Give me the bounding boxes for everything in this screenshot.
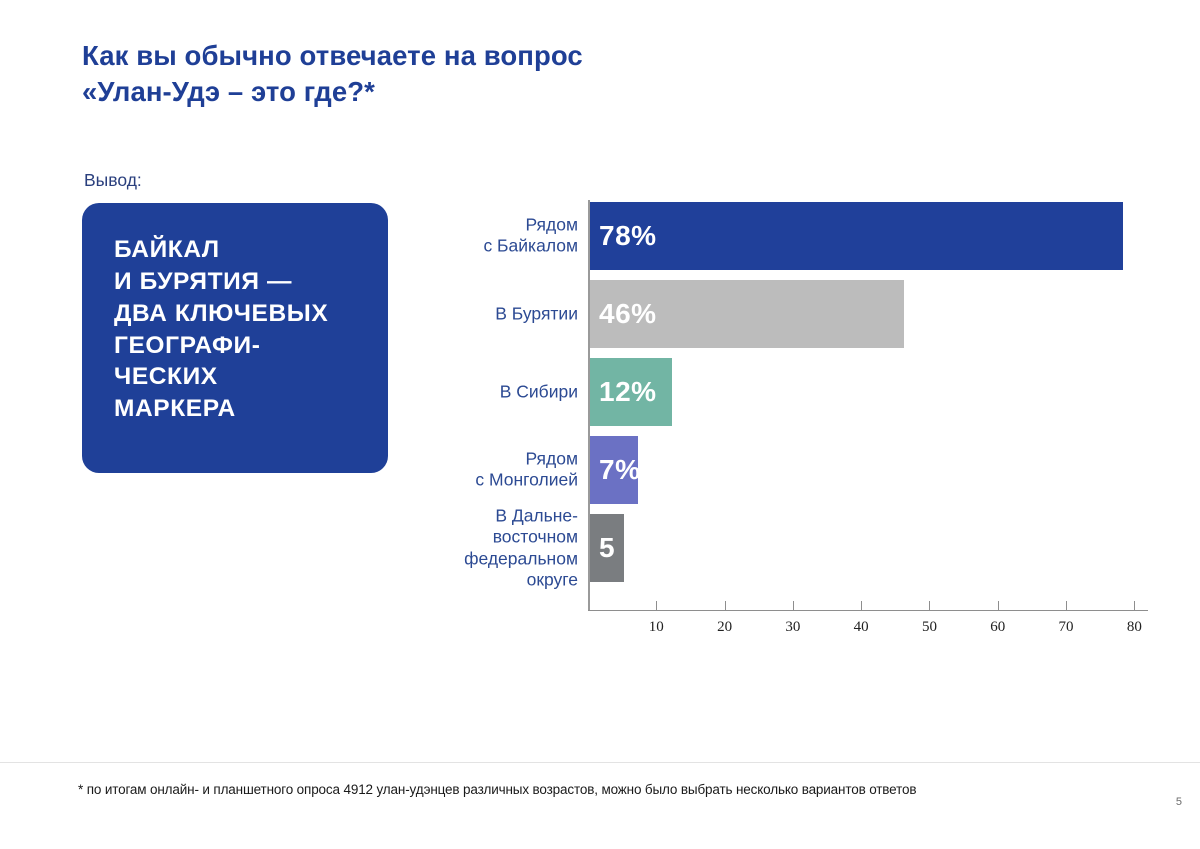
bar: 78% [590,202,1123,270]
x-axis-tick [861,601,862,610]
chart-plot-area: Рядом с Байкалом78%В Бурятии46%В Сибири1… [588,196,1148,610]
page-title: Как вы обычно отвечаете на вопрос «Улан-… [82,38,842,110]
x-axis-tick-label: 20 [717,619,732,636]
x-axis-tick-label: 70 [1059,619,1074,636]
conclusion-caption: Вывод: [82,170,392,191]
bar-value-label: 12% [590,376,657,408]
bar: 46% [590,280,904,348]
x-axis-tick [1134,601,1135,610]
footnote: * по итогам онлайн- и планшетного опроса… [78,782,916,797]
x-axis-tick [793,601,794,610]
bar-row: Рядом с Монголией7% [588,436,1148,504]
bar-value-label: 5 [590,532,615,564]
page-number: 5 [1176,796,1182,808]
bar-row: В Дальне- восточном федеральном округе5 [588,514,1148,582]
bar-category-label: Рядом с Байкалом [378,215,578,258]
bar-chart: Рядом с Байкалом78%В Бурятии46%В Сибири1… [430,196,1170,646]
x-axis-tick-label: 80 [1127,619,1142,636]
x-axis-tick-label: 10 [649,619,664,636]
bar-row: В Бурятии46% [588,280,1148,348]
x-axis-tick-label: 40 [854,619,869,636]
x-axis-tick [725,601,726,610]
bar: 7% [590,436,638,504]
x-axis-tick-label: 60 [990,619,1005,636]
bar-row: Рядом с Байкалом78% [588,202,1148,270]
bar-category-label: В Дальне- восточном федеральном округе [378,505,578,590]
bar-category-label: В Сибири [378,381,578,402]
bar: 12% [590,358,672,426]
x-axis-tick [1066,601,1067,610]
bar-value-label: 46% [590,298,657,330]
value-axis: 1020304050607080 [588,610,1148,650]
bar: 5 [590,514,624,582]
x-axis-tick [998,601,999,610]
bar-category-label: В Бурятии [378,303,578,324]
x-axis-tick [656,601,657,610]
conclusion-card-text: БАЙКАЛ И БУРЯТИЯ — ДВА КЛЮЧЕВЫХ ГЕОГРАФИ… [114,234,362,425]
bar-category-label: Рядом с Монголией [378,449,578,492]
bar-row: В Сибири12% [588,358,1148,426]
x-axis-tick-label: 30 [785,619,800,636]
bar-value-label: 7% [590,454,640,486]
conclusion-block: Вывод: БАЙКАЛ И БУРЯТИЯ — ДВА КЛЮЧЕВЫХ Г… [82,170,392,473]
value-axis-line [588,610,1148,611]
x-axis-tick-label: 50 [922,619,937,636]
conclusion-card: БАЙКАЛ И БУРЯТИЯ — ДВА КЛЮЧЕВЫХ ГЕОГРАФИ… [82,203,388,473]
bar-value-label: 78% [590,220,657,252]
footer-divider [0,762,1200,763]
x-axis-tick [929,601,930,610]
